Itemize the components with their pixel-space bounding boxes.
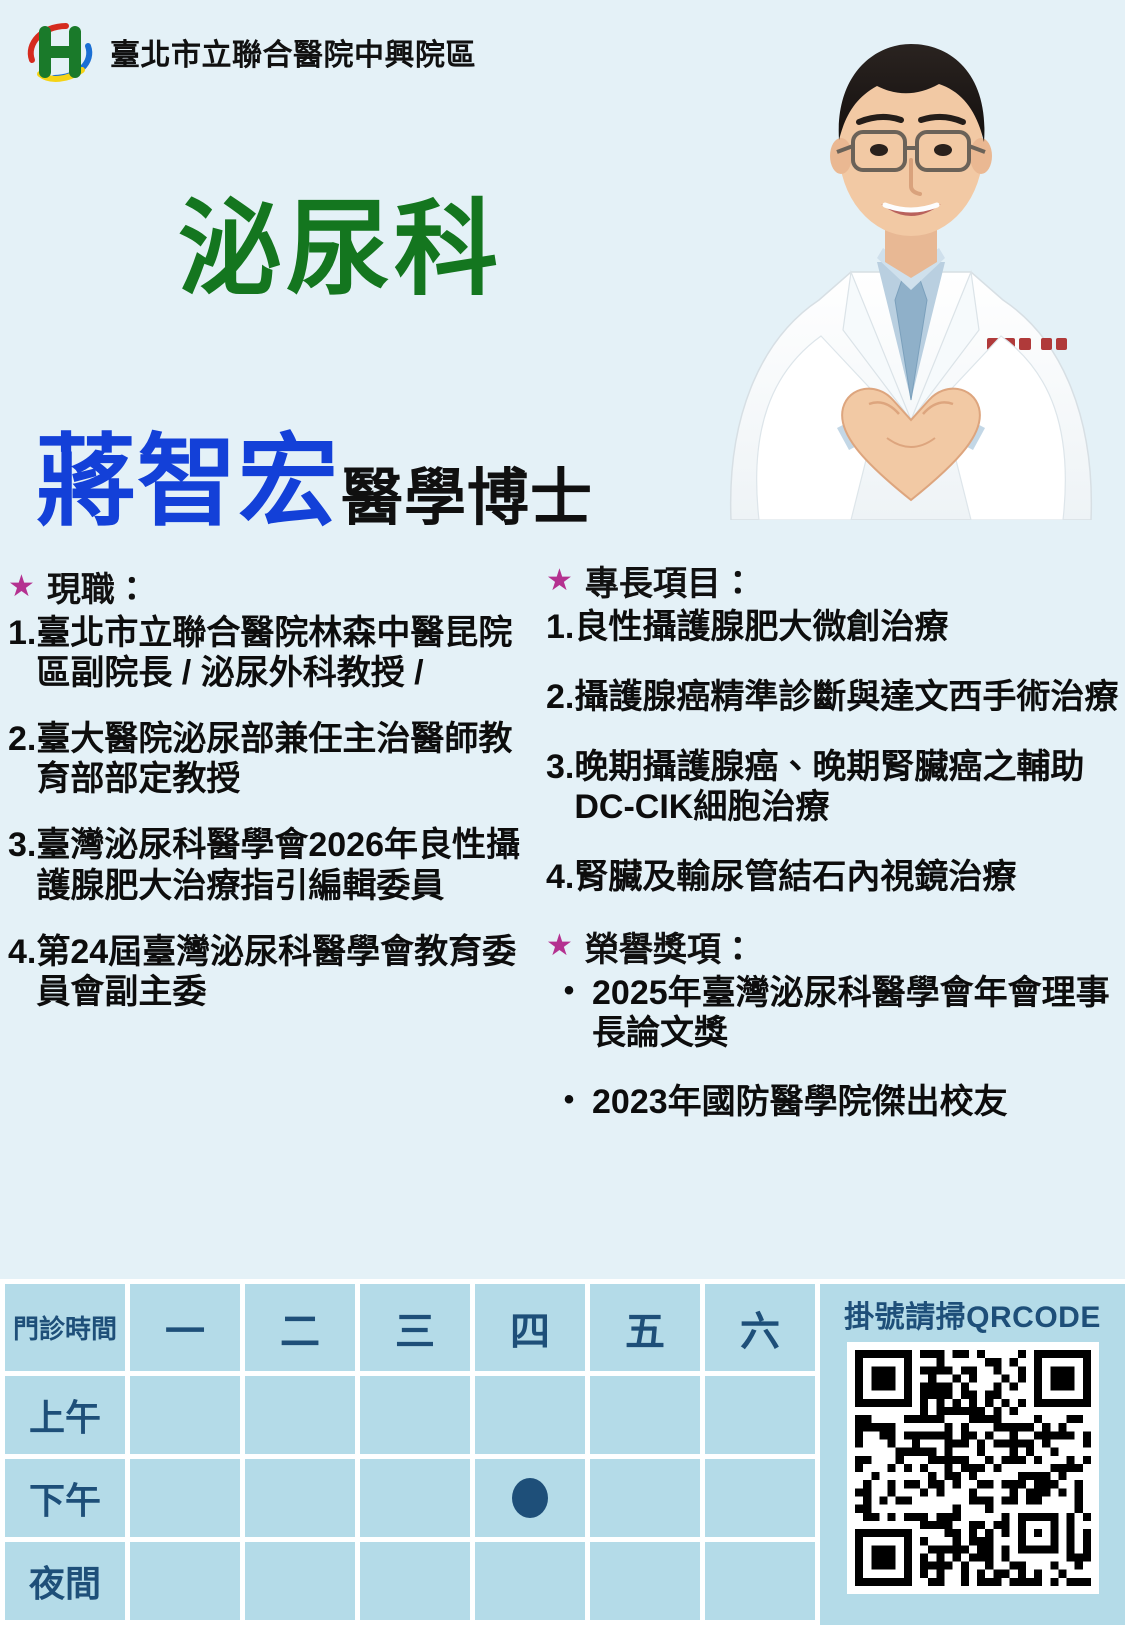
list-item-marker: 1.: [546, 607, 574, 647]
doctor-name-row: 蔣智宏 醫學博士: [36, 432, 593, 532]
list-item-text: 晚期攝護腺癌、晚期腎臟癌之輔助DC-CIK細胞治療: [574, 747, 1121, 827]
hospital-h-logo-icon: [24, 16, 96, 88]
list-item-text: 腎臟及輸尿管結石內視鏡治療: [574, 857, 1121, 897]
table-row: 上午: [5, 1376, 815, 1454]
schedule-cell[interactable]: [360, 1459, 470, 1537]
schedule-cell[interactable]: [245, 1459, 355, 1537]
specialties-heading: ★ 專長項目：: [546, 556, 1121, 605]
schedule-day-header: 五: [590, 1284, 700, 1371]
doctor-degree: 醫學博士: [341, 468, 593, 532]
list-item-text: 臺北市立聯合醫院林森中醫昆院區副院長 / 泌尿外科教授 /: [36, 613, 538, 693]
star-icon: ★: [8, 572, 35, 602]
list-item-marker: 1.: [8, 613, 36, 693]
hospital-name: 臺北市立聯合醫院中興院區: [110, 30, 476, 74]
department-title: 泌尿科: [178, 196, 502, 305]
schedule-cell[interactable]: [705, 1542, 815, 1620]
list-item: • 2023年國防醫學院傑出校友: [546, 1082, 1121, 1123]
star-icon: ★: [546, 566, 573, 596]
schedule-cell[interactable]: [245, 1542, 355, 1620]
specialties-list: 1. 良性攝護腺肥大微創治療 2. 攝護腺癌精準診斷與達文西手術治療 3. 晚期…: [546, 607, 1121, 898]
current-positions-heading-label: 現職：: [47, 562, 149, 611]
qr-caption: 掛號請掃QRCODE: [844, 1292, 1101, 1336]
schedule-cell[interactable]: [360, 1376, 470, 1454]
filled-circle-icon: [512, 1478, 548, 1518]
awards-heading-label: 榮譽獎項：: [585, 922, 755, 971]
schedule-cell[interactable]: [590, 1459, 700, 1537]
list-item-text: 2025年臺灣泌尿科醫學會年會理事長論文獎: [592, 973, 1121, 1055]
schedule-cell-marked[interactable]: [475, 1459, 585, 1537]
schedule-cell[interactable]: [705, 1376, 815, 1454]
schedule-cell[interactable]: [475, 1376, 585, 1454]
list-item-text: 臺大醫院泌尿部兼任主治醫師教育部部定教授: [36, 719, 538, 799]
star-icon: ★: [546, 931, 573, 961]
list-item: 1. 臺北市立聯合醫院林森中醫昆院區副院長 / 泌尿外科教授 /: [8, 613, 538, 693]
schedule-period-label: 下午: [5, 1459, 125, 1537]
schedule-cell[interactable]: [360, 1542, 470, 1620]
list-item-text: 2023年國防醫學院傑出校友: [592, 1082, 1121, 1123]
awards-list: • 2025年臺灣泌尿科醫學會年會理事長論文獎 • 2023年國防醫學院傑出校友: [546, 973, 1121, 1123]
current-positions-list: 1. 臺北市立聯合醫院林森中醫昆院區副院長 / 泌尿外科教授 / 2. 臺大醫院…: [8, 613, 538, 1012]
qr-panel: 掛號請掃QRCODE: [820, 1284, 1125, 1625]
schedule-cell[interactable]: [475, 1542, 585, 1620]
list-item-marker: 4.: [546, 857, 574, 897]
schedule-corner-label: 門診時間: [5, 1284, 125, 1371]
schedule-table: 門診時間 一 二 三 四 五 六 上午: [0, 1279, 820, 1625]
list-item: 4. 第24屆臺灣泌尿科醫學會教育委員會副主委: [8, 932, 538, 1012]
bullet-dot-icon: •: [546, 973, 592, 1055]
doctor-portrait-heart-hands: [701, 0, 1121, 520]
list-item-text: 攝護腺癌精準診斷與達文西手術治療: [574, 677, 1121, 717]
list-item-marker: 4.: [8, 932, 36, 1012]
list-item: 4. 腎臟及輸尿管結石內視鏡治療: [546, 857, 1121, 897]
schedule-day-header: 一: [130, 1284, 240, 1371]
schedule-cell[interactable]: [245, 1376, 355, 1454]
schedule-cell[interactable]: [705, 1459, 815, 1537]
schedule-cell[interactable]: [590, 1376, 700, 1454]
schedule-cell[interactable]: [590, 1542, 700, 1620]
table-header-row: 門診時間 一 二 三 四 五 六: [5, 1284, 815, 1371]
clinic-schedule: 門診時間 一 二 三 四 五 六 上午: [0, 1279, 820, 1625]
current-positions-section: ★ 現職： 1. 臺北市立聯合醫院林森中醫昆院區副院長 / 泌尿外科教授 / 2…: [8, 562, 538, 1038]
table-row: 下午: [5, 1459, 815, 1537]
list-item: 3. 臺灣泌尿科醫學會2026年良性攝護腺肥大治療指引編輯委員: [8, 825, 538, 905]
awards-heading: ★ 榮譽獎項：: [546, 922, 1121, 971]
list-item-marker: 2.: [8, 719, 36, 799]
list-item-text: 臺灣泌尿科醫學會2026年良性攝護腺肥大治療指引編輯委員: [36, 825, 538, 905]
table-row: 夜間: [5, 1542, 815, 1620]
list-item: • 2025年臺灣泌尿科醫學會年會理事長論文獎: [546, 973, 1121, 1055]
poster-background: 臺北市立聯合醫院中興院區 泌尿科 蔣智宏 醫學博士 ★ 現職： 1. 臺北市立聯…: [0, 0, 1125, 1625]
qr-code-icon[interactable]: [847, 1342, 1099, 1594]
list-item: 2. 臺大醫院泌尿部兼任主治醫師教育部部定教授: [8, 719, 538, 799]
current-positions-heading: ★ 現職：: [8, 562, 538, 611]
schedule-period-label: 夜間: [5, 1542, 125, 1620]
specialties-and-awards-section: ★ 專長項目： 1. 良性攝護腺肥大微創治療 2. 攝護腺癌精準診斷與達文西手術…: [546, 556, 1121, 1151]
schedule-cell[interactable]: [130, 1542, 240, 1620]
list-item: 2. 攝護腺癌精準診斷與達文西手術治療: [546, 677, 1121, 717]
schedule-day-header: 六: [705, 1284, 815, 1371]
schedule-day-header: 三: [360, 1284, 470, 1371]
list-item-text: 良性攝護腺肥大微創治療: [574, 607, 1121, 647]
doctor-name: 蔣智宏: [36, 432, 339, 532]
list-item: 3. 晚期攝護腺癌、晚期腎臟癌之輔助DC-CIK細胞治療: [546, 747, 1121, 827]
hospital-header: 臺北市立聯合醫院中興院區: [24, 16, 476, 88]
schedule-day-header: 四: [475, 1284, 585, 1371]
schedule-period-label: 上午: [5, 1376, 125, 1454]
list-item-marker: 3.: [546, 747, 574, 827]
list-item-marker: 3.: [8, 825, 36, 905]
specialties-heading-label: 專長項目：: [585, 556, 755, 605]
schedule-cell[interactable]: [130, 1376, 240, 1454]
list-item-text: 第24屆臺灣泌尿科醫學會教育委員會副主委: [36, 932, 538, 1012]
schedule-cell[interactable]: [130, 1459, 240, 1537]
schedule-day-header: 二: [245, 1284, 355, 1371]
list-item-marker: 2.: [546, 677, 574, 717]
list-item: 1. 良性攝護腺肥大微創治療: [546, 607, 1121, 647]
bullet-dot-icon: •: [546, 1082, 592, 1123]
bottom-strip: 門診時間 一 二 三 四 五 六 上午: [0, 1279, 1125, 1625]
